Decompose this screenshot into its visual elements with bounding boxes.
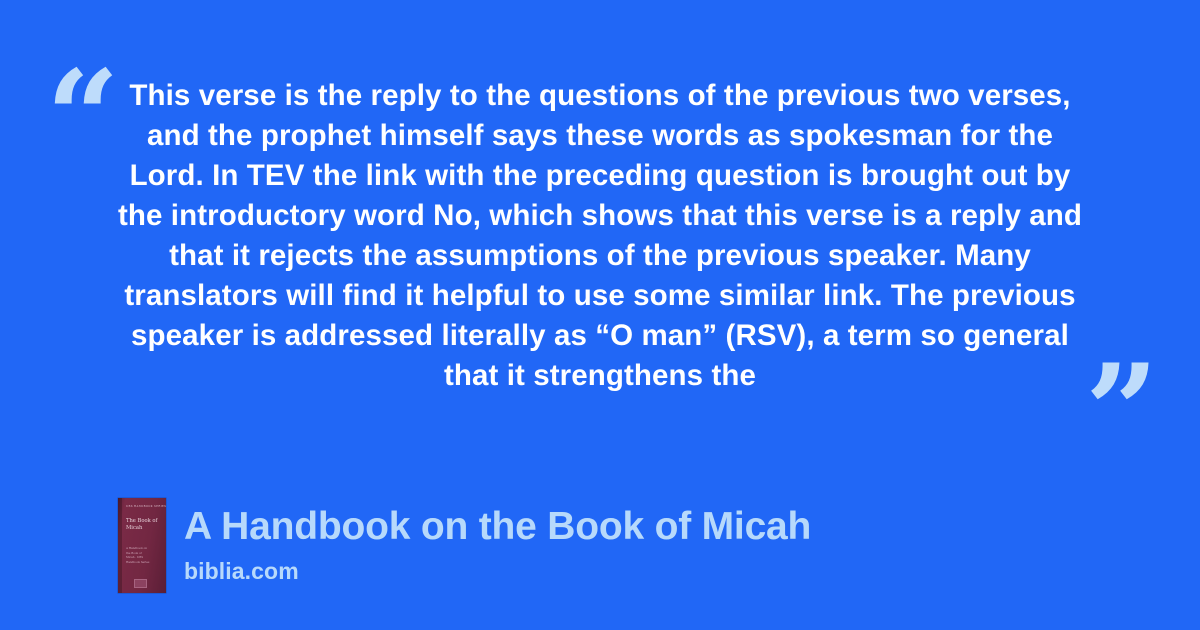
book-cover-title: The Book of Micah <box>126 518 160 532</box>
close-quote-icon: ” <box>1085 348 1157 476</box>
footer-text: A Handbook on the Book of Micah biblia.c… <box>184 498 811 586</box>
publisher-logo-icon <box>134 579 147 588</box>
book-cover-authors: A Handbook on the Book of Micah · UBS Ha… <box>126 546 158 564</box>
quote-card: “ This verse is the reply to the questio… <box>0 0 1200 630</box>
quote-text: This verse is the reply to the questions… <box>108 76 1092 396</box>
book-title: A Handbook on the Book of Micah <box>184 504 811 550</box>
open-quote-icon: “ <box>46 54 118 182</box>
book-cover-series-label: UBS HANDBOOK SERIES <box>126 505 166 508</box>
book-cover-author-line: Handbook Series <box>126 560 158 565</box>
book-spine <box>118 498 122 593</box>
book-cover-thumbnail: UBS HANDBOOK SERIES The Book of Micah A … <box>118 498 166 593</box>
quote-block: “ This verse is the reply to the questio… <box>0 48 1200 428</box>
footer: UBS HANDBOOK SERIES The Book of Micah A … <box>118 498 811 593</box>
site-name: biblia.com <box>184 556 811 586</box>
